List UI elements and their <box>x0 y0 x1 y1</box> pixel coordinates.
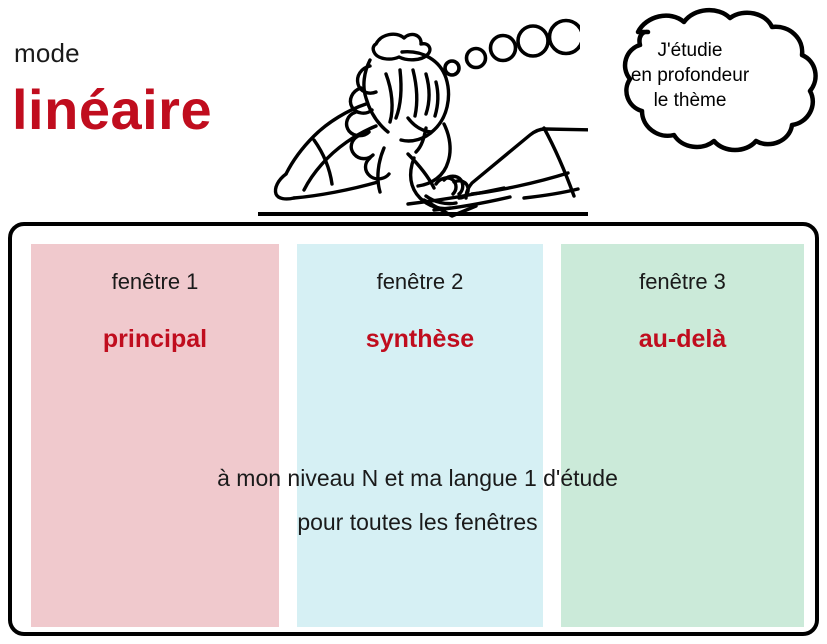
window-column-1[interactable]: fenêtre 1 principal <box>31 244 279 627</box>
window-1-name: principal <box>31 326 279 354</box>
window-1-heading: fenêtre 1 <box>31 270 279 294</box>
header-area: mode linéaire <box>0 0 827 222</box>
page-title: linéaire <box>12 82 212 138</box>
thought-bubble-text: J'étudie en profondeur le thème <box>560 38 820 113</box>
window-3-heading: fenêtre 3 <box>561 270 804 294</box>
window-column-2[interactable]: fenêtre 2 synthèse <box>297 244 543 627</box>
thought-bubble-line-1: J'étudie <box>560 38 820 63</box>
window-2-heading: fenêtre 2 <box>297 270 543 294</box>
window-columns: fenêtre 1 principal fenêtre 2 synthèse f… <box>31 244 804 627</box>
mode-label: mode <box>14 40 80 66</box>
window-2-name: synthèse <box>297 326 543 354</box>
thought-bubble-line-2: en profondeur <box>560 63 820 88</box>
thought-dots-icon <box>440 14 580 84</box>
window-column-3[interactable]: fenêtre 3 au-delà <box>561 244 804 627</box>
thought-bubble-line-3: le thème <box>560 88 820 113</box>
windows-frame: fenêtre 1 principal fenêtre 2 synthèse f… <box>8 222 819 636</box>
window-3-name: au-delà <box>561 326 804 354</box>
